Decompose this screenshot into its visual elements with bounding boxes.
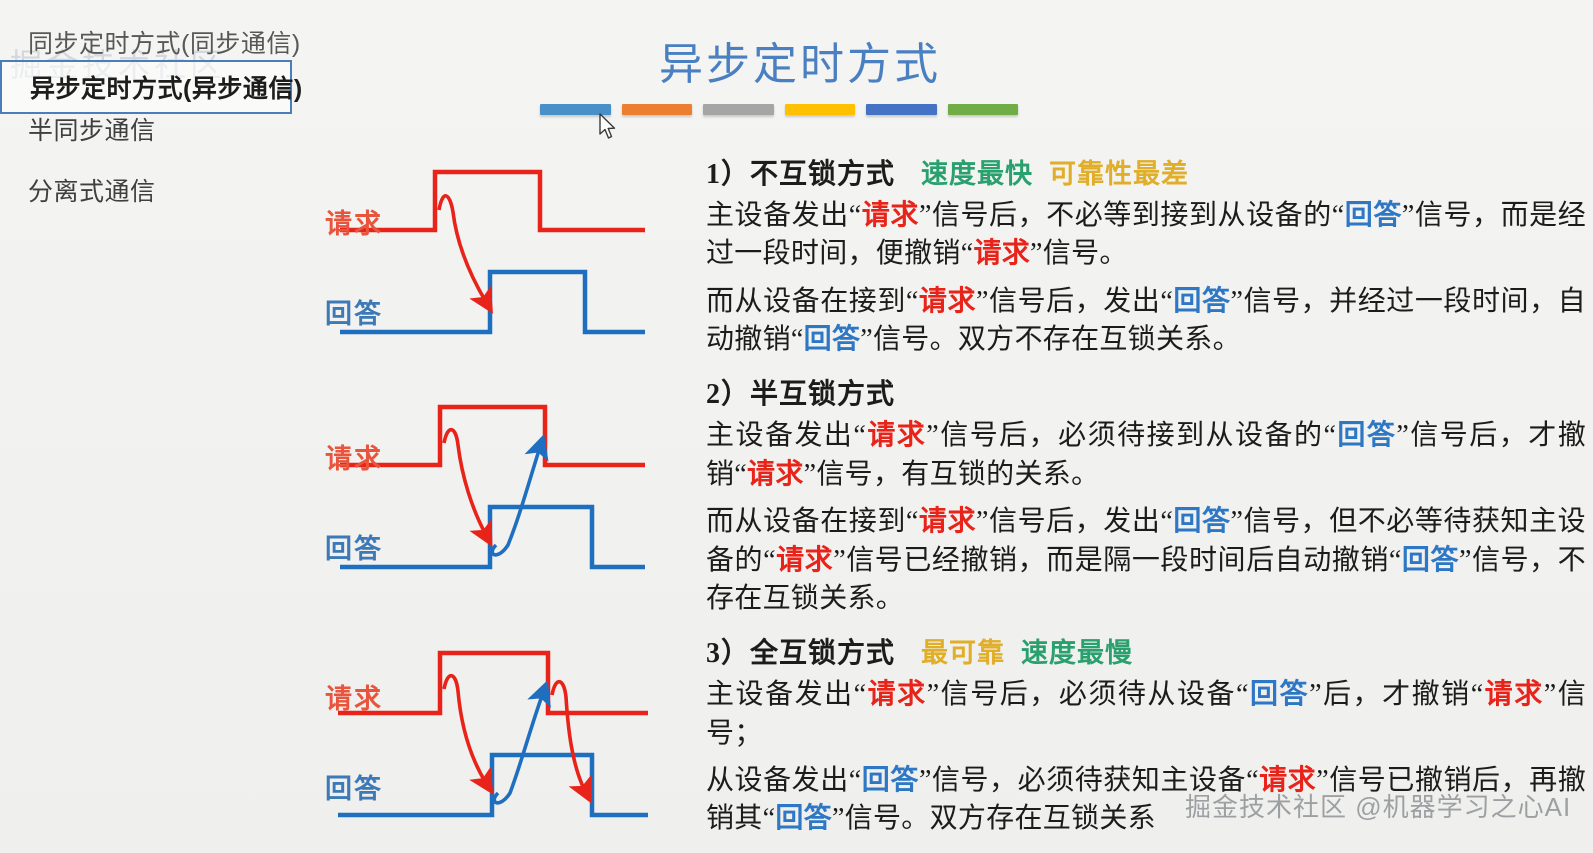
request-keyword: 请求: [747, 459, 804, 490]
section-title: 全互锁方式: [750, 638, 895, 669]
section-number: 3）: [706, 638, 750, 669]
section-note-green: 速度最慢: [1021, 638, 1133, 668]
slide-canvas: 掘金技术社区 同步定时方式(同步通信) 异步定时方式(异步通信) 半同步通信 分…: [0, 0, 1593, 853]
waveform-answer-label: 回答: [325, 527, 383, 566]
waveform-request-label: 请求: [325, 677, 383, 716]
section-note-yellow: 可靠性最差: [1049, 159, 1189, 189]
waveform-full-interlock: 请求 回答: [300, 625, 680, 830]
answer-keyword: 回答: [1336, 420, 1396, 451]
answer-keyword: 回答: [1173, 506, 1230, 537]
request-keyword: 请求: [866, 420, 926, 451]
section-number: 2）: [706, 379, 750, 410]
request-keyword: 请求: [1483, 679, 1543, 710]
bar-yellow: [785, 104, 856, 115]
answer-keyword: 回答: [775, 803, 832, 834]
section-paragraph: 主设备发出“请求”信号后，必须待从设备“回答”后，才撤销“请求”信号；: [706, 676, 1586, 753]
waveform-request-label: 请求: [325, 202, 383, 241]
section-paragraph: 主设备发出“请求”信号后，不必等到接到从设备的“回答”信号，而是经过一段时间，便…: [706, 197, 1586, 274]
request-keyword: 请求: [919, 286, 976, 317]
section-note-yellow: 最可靠: [921, 638, 1005, 668]
request-keyword: 请求: [973, 238, 1030, 269]
section-heading-2: 2）半互锁方式: [706, 372, 1586, 412]
sidebar-item-sync-timing[interactable]: 同步定时方式(同步通信): [28, 24, 301, 60]
bar-green: [948, 104, 1019, 115]
waveform-half-interlock: 请求 回答: [300, 385, 680, 590]
request-keyword: 请求: [919, 506, 976, 537]
waveform-answer-label: 回答: [325, 767, 383, 806]
request-keyword: 请求: [776, 545, 833, 576]
answer-keyword: 回答: [1249, 679, 1309, 710]
page-title: 异步定时方式: [600, 28, 1000, 92]
section-paragraph: 而从设备在接到“请求”信号后，发出“回答”信号，并经过一段时间，自动撤销“回答”…: [706, 283, 1586, 360]
bar-orange: [622, 104, 693, 115]
section-heading-1: 1）不互锁方式速度最快可靠性最差: [706, 152, 1586, 192]
mouse-cursor: [598, 113, 618, 141]
watermark: 掘金技术社区 @机器学习之心AI: [1185, 787, 1571, 824]
section-note-green: 速度最快: [921, 159, 1033, 189]
content-column: 1）不互锁方式速度最快可靠性最差 主设备发出“请求”信号后，不必等到接到从设备的…: [706, 152, 1586, 848]
bar-gray: [703, 104, 774, 115]
sidebar-item-async-timing[interactable]: 异步定时方式(异步通信): [0, 60, 292, 114]
sidebar-item-split-transaction[interactable]: 分离式通信: [28, 172, 156, 208]
section-title: 不互锁方式: [750, 159, 895, 190]
section-heading-3: 3）全互锁方式最可靠速度最慢: [706, 631, 1586, 671]
sidebar-item-semi-sync[interactable]: 半同步通信: [28, 111, 156, 147]
answer-keyword: 回答: [1402, 545, 1459, 576]
request-keyword: 请求: [862, 200, 919, 231]
waveform-no-interlock: 请求 回答: [300, 150, 680, 355]
bar-darkblue: [866, 104, 937, 115]
section-paragraph: 主设备发出“请求”信号后，必须待接到从设备的“回答”信号后，才撤销“请求”信号，…: [706, 417, 1586, 494]
section-title: 半互锁方式: [750, 379, 895, 410]
answer-keyword: 回答: [1345, 200, 1402, 231]
section-paragraph: 而从设备在接到“请求”信号后，发出“回答”信号，但不必等待获知主设备的“请求”信…: [706, 503, 1586, 618]
section-number: 1）: [706, 159, 750, 190]
answer-keyword: 回答: [804, 324, 861, 355]
request-keyword: 请求: [866, 679, 926, 710]
waveform-request-label: 请求: [325, 437, 383, 476]
sidebar-nav: 掘金技术社区 同步定时方式(同步通信) 异步定时方式(异步通信) 半同步通信 分…: [0, 0, 300, 853]
waveform-answer-label: 回答: [325, 292, 383, 331]
answer-keyword: 回答: [862, 765, 919, 796]
answer-keyword: 回答: [1173, 286, 1230, 317]
